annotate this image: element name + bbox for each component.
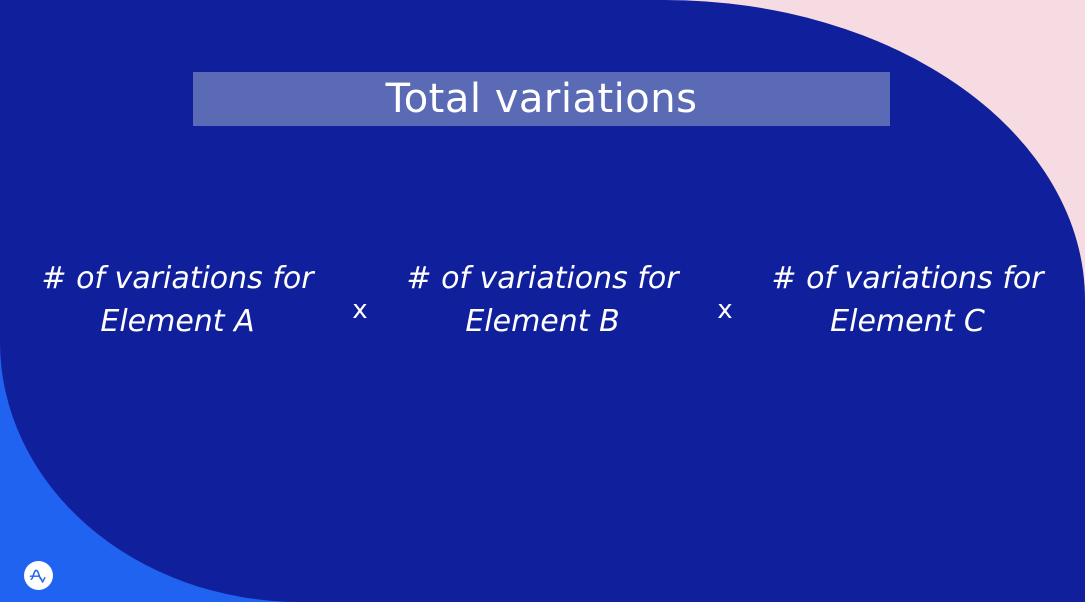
formula-term-b: # of variations for Element B <box>390 258 695 343</box>
page-title: Total variations <box>386 79 698 119</box>
formula-term-b-line2: Element B <box>390 301 695 344</box>
formula-term-c-line1: # of variations for <box>755 258 1060 301</box>
formula-term-a: # of variations for Element A <box>25 258 330 343</box>
formula-operator-1: x <box>330 279 390 323</box>
formula-term-a-line2: Element A <box>25 301 330 344</box>
formula-term-c: # of variations for Element C <box>755 258 1060 343</box>
brand-a-wave-icon <box>28 565 50 587</box>
title-banner: Total variations <box>193 72 890 126</box>
brand-logo <box>24 561 53 590</box>
formula-operator-2: x <box>695 279 755 323</box>
slide-canvas: Total variations # of variations for Ele… <box>0 0 1085 602</box>
formula-term-b-line1: # of variations for <box>390 258 695 301</box>
formula-term-a-line1: # of variations for <box>25 258 330 301</box>
formula-row: # of variations for Element A x # of var… <box>0 258 1085 343</box>
formula-term-c-line2: Element C <box>755 301 1060 344</box>
